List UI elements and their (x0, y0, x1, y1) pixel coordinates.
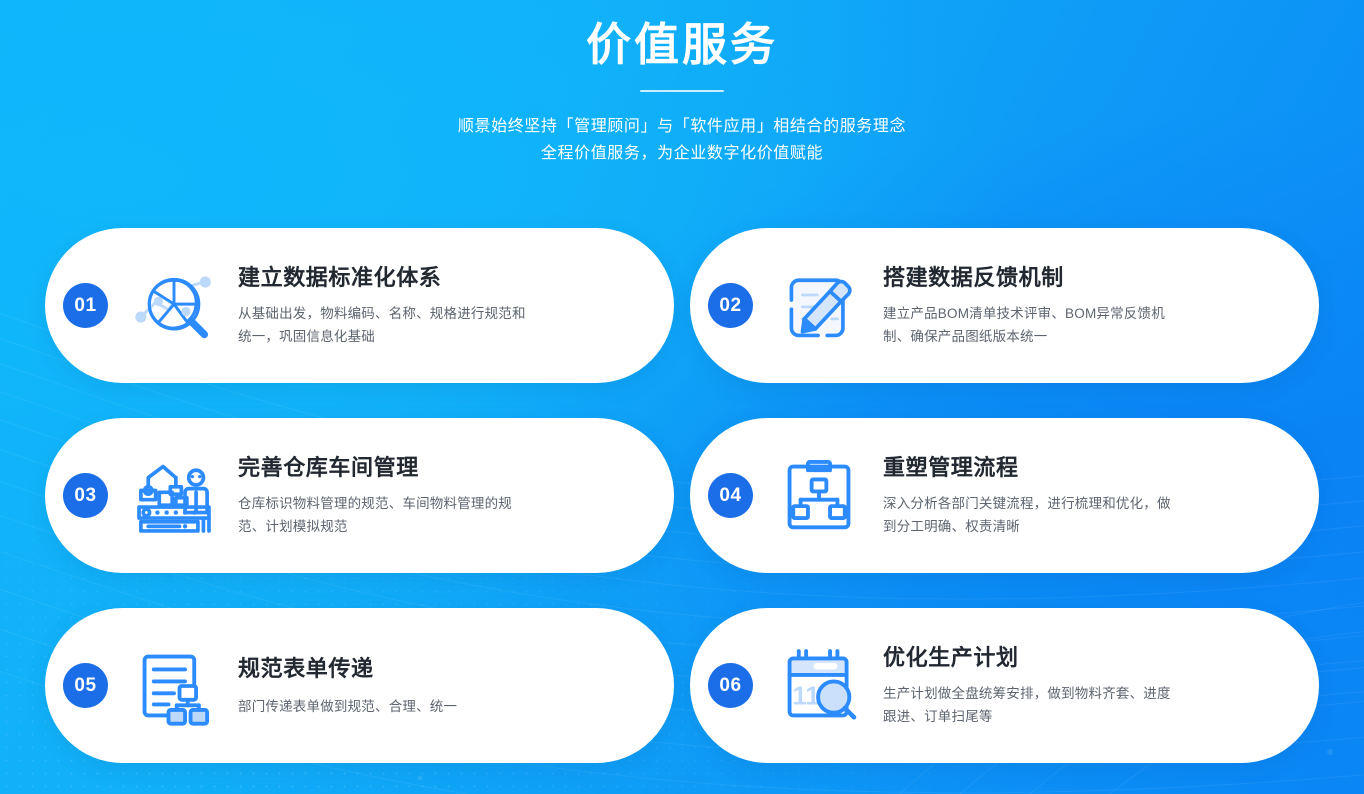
svg-text:11: 11 (793, 682, 820, 710)
card-description-line-1: 深入分析各部门关键流程，进行梳理和优化，做 (883, 492, 1289, 515)
service-card-05[interactable]: 05 (45, 608, 674, 763)
card-number-badge: 04 (708, 473, 753, 518)
card-number-badge: 03 (63, 473, 108, 518)
card-text: 完善仓库车间管理 仓库标识物料管理的规范、车间物料管理的规 范、计划模拟规范 (238, 453, 644, 538)
card-description-line-1: 建立产品BOM清单技术评审、BOM异常反馈机 (883, 302, 1289, 325)
card-title: 搭建数据反馈机制 (883, 263, 1289, 293)
card-description: 生产计划做全盘统筹安排，做到物料齐套、进度 跟进、订单扫尾等 (883, 682, 1289, 728)
card-description-line-2: 统一，巩固信息化基础 (238, 325, 644, 348)
document-flow-icon (122, 634, 226, 738)
card-number-badge: 01 (63, 283, 108, 328)
card-text: 优化生产计划 生产计划做全盘统筹安排，做到物料齐套、进度 跟进、订单扫尾等 (883, 643, 1289, 728)
card-description: 深入分析各部门关键流程，进行梳理和优化，做 到分工明确、权责清晰 (883, 492, 1289, 538)
card-title: 完善仓库车间管理 (238, 453, 644, 483)
service-card-06[interactable]: 06 11 优化生产计划 生产计划做全盘统筹安排，做到物料齐套、进度 (690, 608, 1319, 763)
card-text: 搭建数据反馈机制 建立产品BOM清单技术评审、BOM异常反馈机 制、确保产品图纸… (883, 263, 1289, 348)
card-title: 优化生产计划 (883, 643, 1289, 673)
factory-worker-conveyor-icon (122, 444, 226, 548)
card-description-line-2: 制、确保产品图纸版本统一 (883, 325, 1289, 348)
card-description-line-1: 从基础出发，物料编码、名称、规格进行规范和 (238, 302, 644, 325)
card-text: 建立数据标准化体系 从基础出发，物料编码、名称、规格进行规范和 统一，巩固信息化… (238, 263, 644, 348)
calendar-magnifier-icon: 11 (767, 634, 871, 738)
card-description-line-2: 到分工明确、权责清晰 (883, 515, 1289, 538)
card-description-line-1: 部门传递表单做到规范、合理、统一 (238, 695, 644, 718)
title-divider (640, 90, 724, 92)
card-number-badge: 05 (63, 663, 108, 708)
card-title: 规范表单传递 (238, 654, 644, 684)
card-description: 部门传递表单做到规范、合理、统一 (238, 695, 644, 718)
service-card-04[interactable]: 04 重塑管理流程 深入分析各部门关键流程，进行梳理和优化，做 (690, 418, 1319, 573)
service-card-02[interactable]: 02 搭建数据反馈机制 建立产品B (690, 228, 1319, 383)
page-title: 价值服务 (0, 14, 1364, 76)
card-text: 重塑管理流程 深入分析各部门关键流程，进行梳理和优化，做 到分工明确、权责清晰 (883, 453, 1289, 538)
card-description-line-2: 跟进、订单扫尾等 (883, 705, 1289, 728)
card-description: 从基础出发，物料编码、名称、规格进行规范和 统一，巩固信息化基础 (238, 302, 644, 348)
card-title: 重塑管理流程 (883, 453, 1289, 483)
card-description: 建立产品BOM清单技术评审、BOM异常反馈机 制、确保产品图纸版本统一 (883, 302, 1289, 348)
page-subtitle: 顺景始终坚持「管理顾问」与「软件应用」相结合的服务理念 全程价值服务，为企业数字… (0, 113, 1364, 167)
service-card-grid: 01 (45, 228, 1319, 763)
card-number-badge: 06 (708, 663, 753, 708)
card-title: 建立数据标准化体系 (238, 263, 644, 293)
card-text: 规范表单传递 部门传递表单做到规范、合理、统一 (238, 654, 644, 718)
card-description-line-1: 生产计划做全盘统筹安排，做到物料齐套、进度 (883, 682, 1289, 705)
subtitle-line-1: 顺景始终坚持「管理顾问」与「软件应用」相结合的服务理念 (0, 113, 1364, 140)
document-pencil-icon (767, 254, 871, 358)
pie-chart-magnifier-icon (122, 254, 226, 358)
service-card-01[interactable]: 01 (45, 228, 674, 383)
card-number-badge: 02 (708, 283, 753, 328)
clipboard-hierarchy-icon (767, 444, 871, 548)
subtitle-line-2: 全程价值服务，为企业数字化价值赋能 (0, 140, 1364, 167)
service-card-03[interactable]: 03 (45, 418, 674, 573)
card-description: 仓库标识物料管理的规范、车间物料管理的规 范、计划模拟规范 (238, 492, 644, 538)
card-description-line-1: 仓库标识物料管理的规范、车间物料管理的规 (238, 492, 644, 515)
page-header: 价值服务 顺景始终坚持「管理顾问」与「软件应用」相结合的服务理念 全程价值服务，… (0, 0, 1364, 167)
card-description-line-2: 范、计划模拟规范 (238, 515, 644, 538)
